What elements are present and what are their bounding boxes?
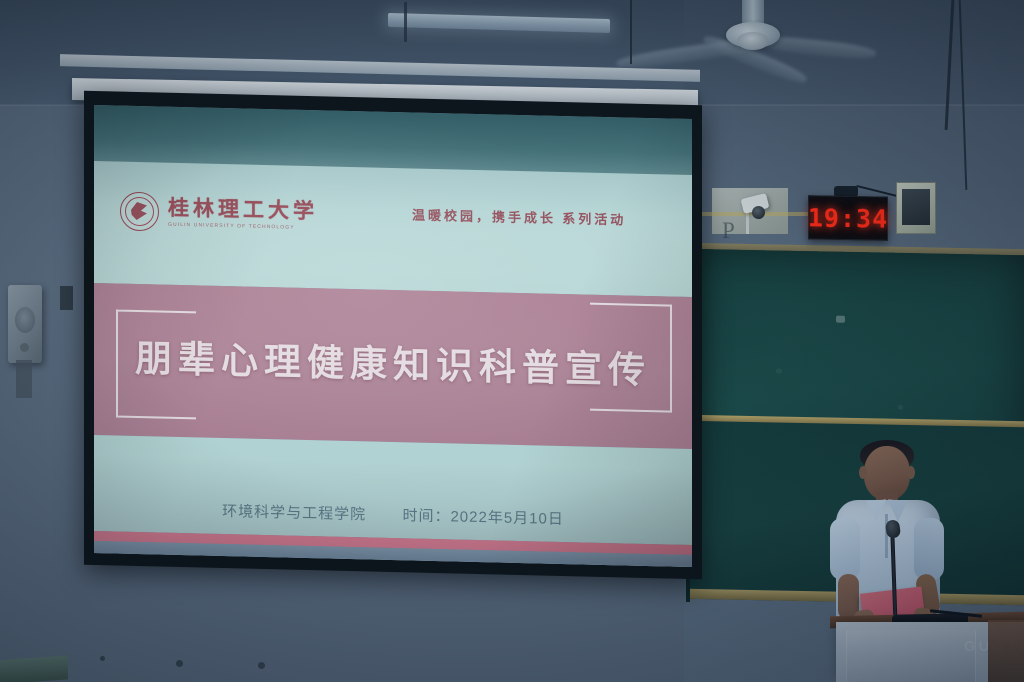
wall-fixture-screw (176, 660, 183, 667)
control-panel-face (902, 189, 930, 225)
podium-front-panel (846, 630, 976, 682)
speaker-cone-icon (15, 307, 35, 333)
projection-screen-frame: 桂林理工大学 GUILIN UNIVERSITY OF TECHNOLOGY 温… (84, 91, 702, 580)
classroom-desk (0, 655, 68, 682)
projection-screen-surface: 桂林理工大学 GUILIN UNIVERSITY OF TECHNOLOGY 温… (94, 105, 692, 567)
speaker-bracket (16, 360, 32, 398)
spacer (371, 519, 397, 520)
speaker-tweeter-icon (20, 343, 29, 352)
slide-department: 环境科学与工程学院 (222, 503, 366, 523)
slide-date: 时间：2022年5月10日 (402, 507, 563, 528)
chalk-mark (776, 368, 782, 373)
light-bracket (404, 2, 407, 42)
chalk-mark (898, 405, 903, 410)
digital-wall-clock: 19:34 (808, 195, 888, 240)
camera-arm (746, 210, 749, 234)
wall-control-panel[interactable] (896, 182, 936, 234)
presenter-ear (907, 466, 915, 479)
wall-fixture-screw (258, 662, 265, 669)
classroom-photo-scene: P 19:34 桂林理工大学 GUILI (0, 0, 1024, 682)
university-seal-icon (120, 192, 159, 232)
fan-hub-cap (737, 32, 769, 50)
wall-outlet-plate (60, 286, 73, 310)
university-logo: 桂林理工大学 GUILIN UNIVERSITY OF TECHNOLOGY (120, 192, 318, 236)
shirt-sleeve (830, 518, 860, 580)
wall-speaker (8, 285, 42, 363)
university-name-cn: 桂林理工大学 (168, 197, 318, 222)
hanging-cable (630, 0, 632, 64)
wall-fixture-screw (100, 656, 105, 661)
presenter-ear (859, 466, 867, 479)
chalk-mark (836, 316, 845, 323)
camera-lens-icon (752, 206, 765, 219)
shirt-sleeve (914, 518, 944, 580)
presentation-slide: 桂林理工大学 GUILIN UNIVERSITY OF TECHNOLOGY 温… (94, 105, 692, 567)
clock-time-display: 19:34 (808, 203, 888, 233)
wall-marking-letter: P (722, 218, 735, 244)
podium-side-panel (988, 620, 1024, 682)
